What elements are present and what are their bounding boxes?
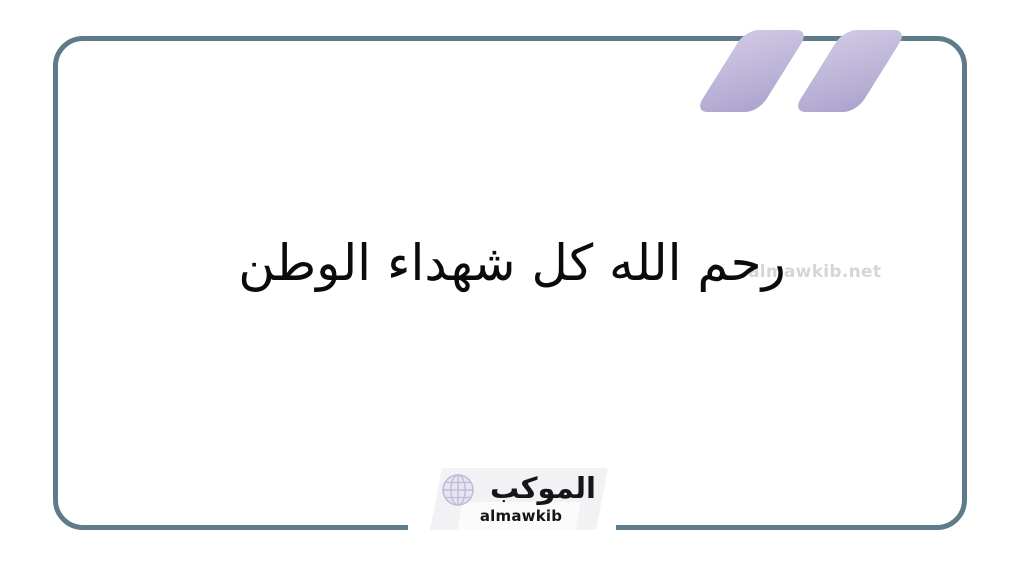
globe-icon	[441, 473, 475, 507]
quote-card: almawkib.net رحم الله كل شهداء الوطن الم…	[0, 0, 1024, 576]
logo-latin-wordmark: almawkib	[462, 507, 580, 525]
quote-body-text: رحم الله كل شهداء الوطن	[0, 232, 1024, 295]
logo-arabic-wordmark: الموكب	[478, 469, 608, 507]
brand-logo[interactable]: الموكب almawkib	[418, 466, 618, 532]
